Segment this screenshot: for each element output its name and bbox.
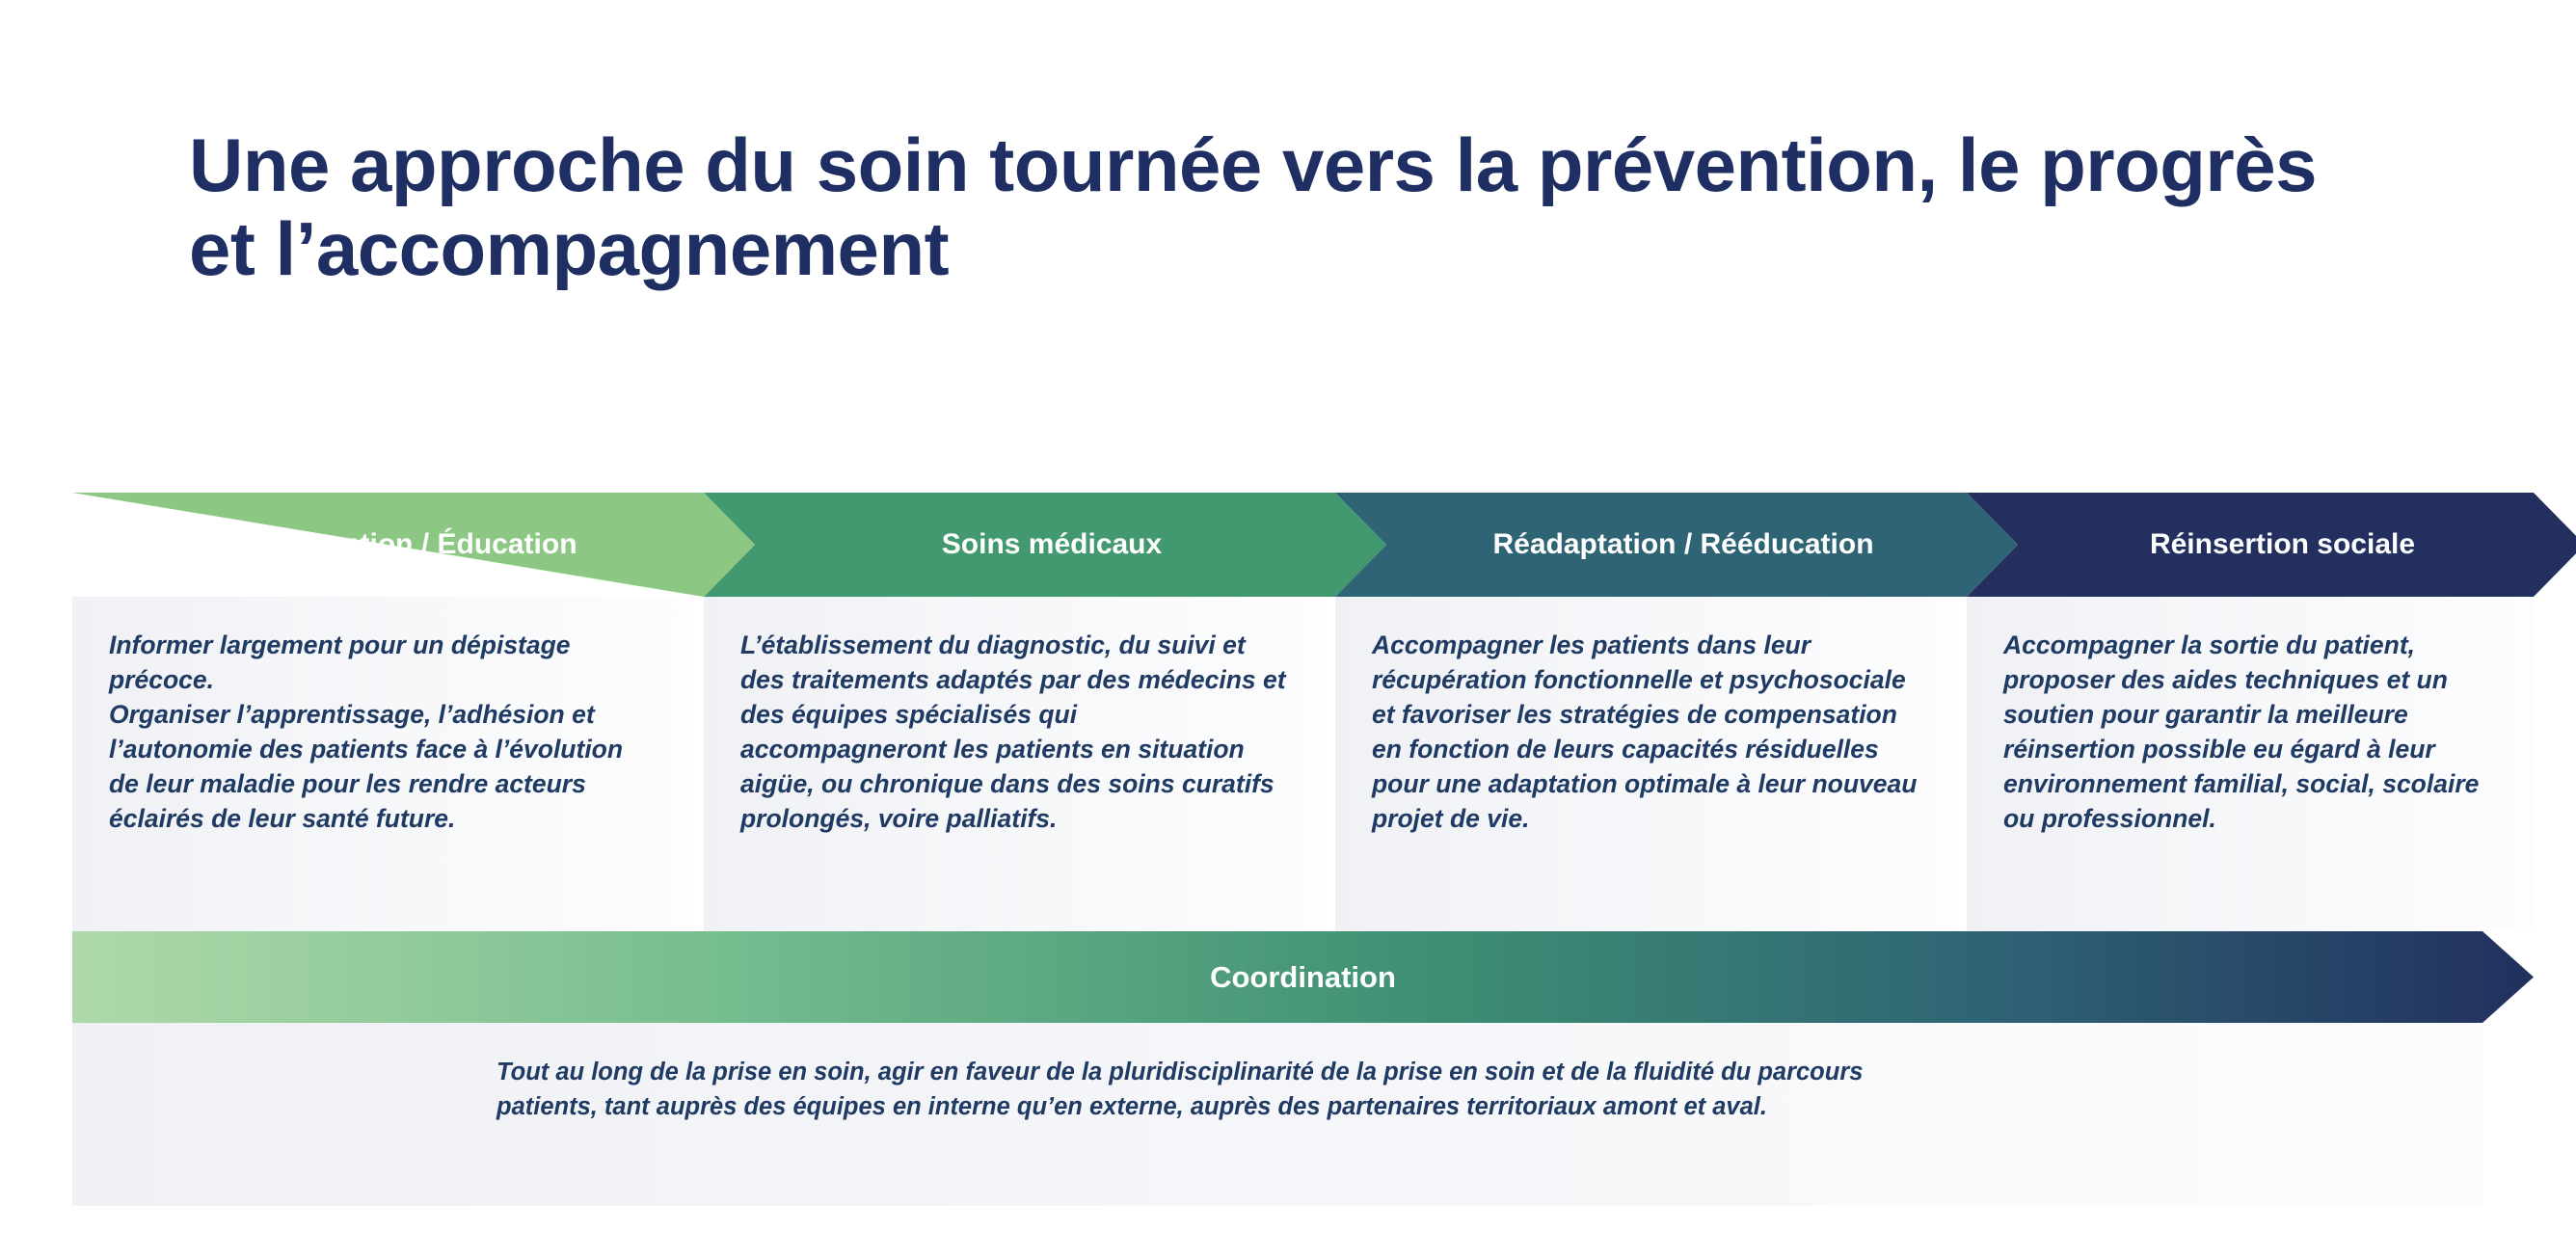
stage-header-label: Prévention / Éducation	[250, 528, 577, 561]
coordination-banner[interactable]: Coordination	[72, 931, 2534, 1023]
coordination-row: Coordination	[72, 931, 2534, 1023]
stage-header-prevention-education[interactable]: Prévention / Éducation	[72, 493, 755, 597]
coordination-body-text: Tout au long de la prise en soin, agir e…	[496, 1055, 2135, 1124]
stage-body-reinsertion-sociale: Accompagner la sortie du patient, propos…	[1967, 597, 2534, 931]
page-title: Une approche du soin tournée vers la pré…	[189, 123, 2339, 292]
stage-body-prevention-education: Informer largement pour un dépistage pré…	[72, 597, 694, 931]
stage-header-readaptation-reeducation[interactable]: Réadaptation / Rééducation	[1335, 493, 2018, 597]
stage-body-readaptation-reeducation: Accompagner les patients dans leur récup…	[1335, 597, 1957, 931]
stage-body-text: Accompagner la sortie du patient, propos…	[2003, 628, 2497, 836]
stage-header-label: Soins médicaux	[928, 528, 1162, 561]
coordination-label: Coordination	[1210, 960, 1396, 995]
stage-body-text: L’établissement du diagnostic, du suivi …	[740, 628, 1289, 836]
stage-header-label: Réadaptation / Rééducation	[1479, 528, 1873, 561]
stage-header-label: Réinsertion sociale	[2136, 528, 2415, 561]
coordination-body-panel: Tout au long de la prise en soin, agir e…	[72, 1023, 2482, 1206]
care-pathway-diagram: Prévention / Éducation Soins médicaux Ré…	[72, 493, 2534, 1206]
stage-body-text: Informer largement pour un dépistage pré…	[109, 628, 657, 836]
stage-header-reinsertion-sociale[interactable]: Réinsertion sociale	[1967, 493, 2576, 597]
stage-header-row: Prévention / Éducation Soins médicaux Ré…	[72, 493, 2534, 597]
stage-body-text: Accompagner les patients dans leur récup…	[1372, 628, 1920, 836]
stage-body-row: Informer largement pour un dépistage pré…	[72, 597, 2482, 931]
stage-header-soins-medicaux[interactable]: Soins médicaux	[704, 493, 1386, 597]
stage-body-soins-medicaux: L’établissement du diagnostic, du suivi …	[704, 597, 1326, 931]
